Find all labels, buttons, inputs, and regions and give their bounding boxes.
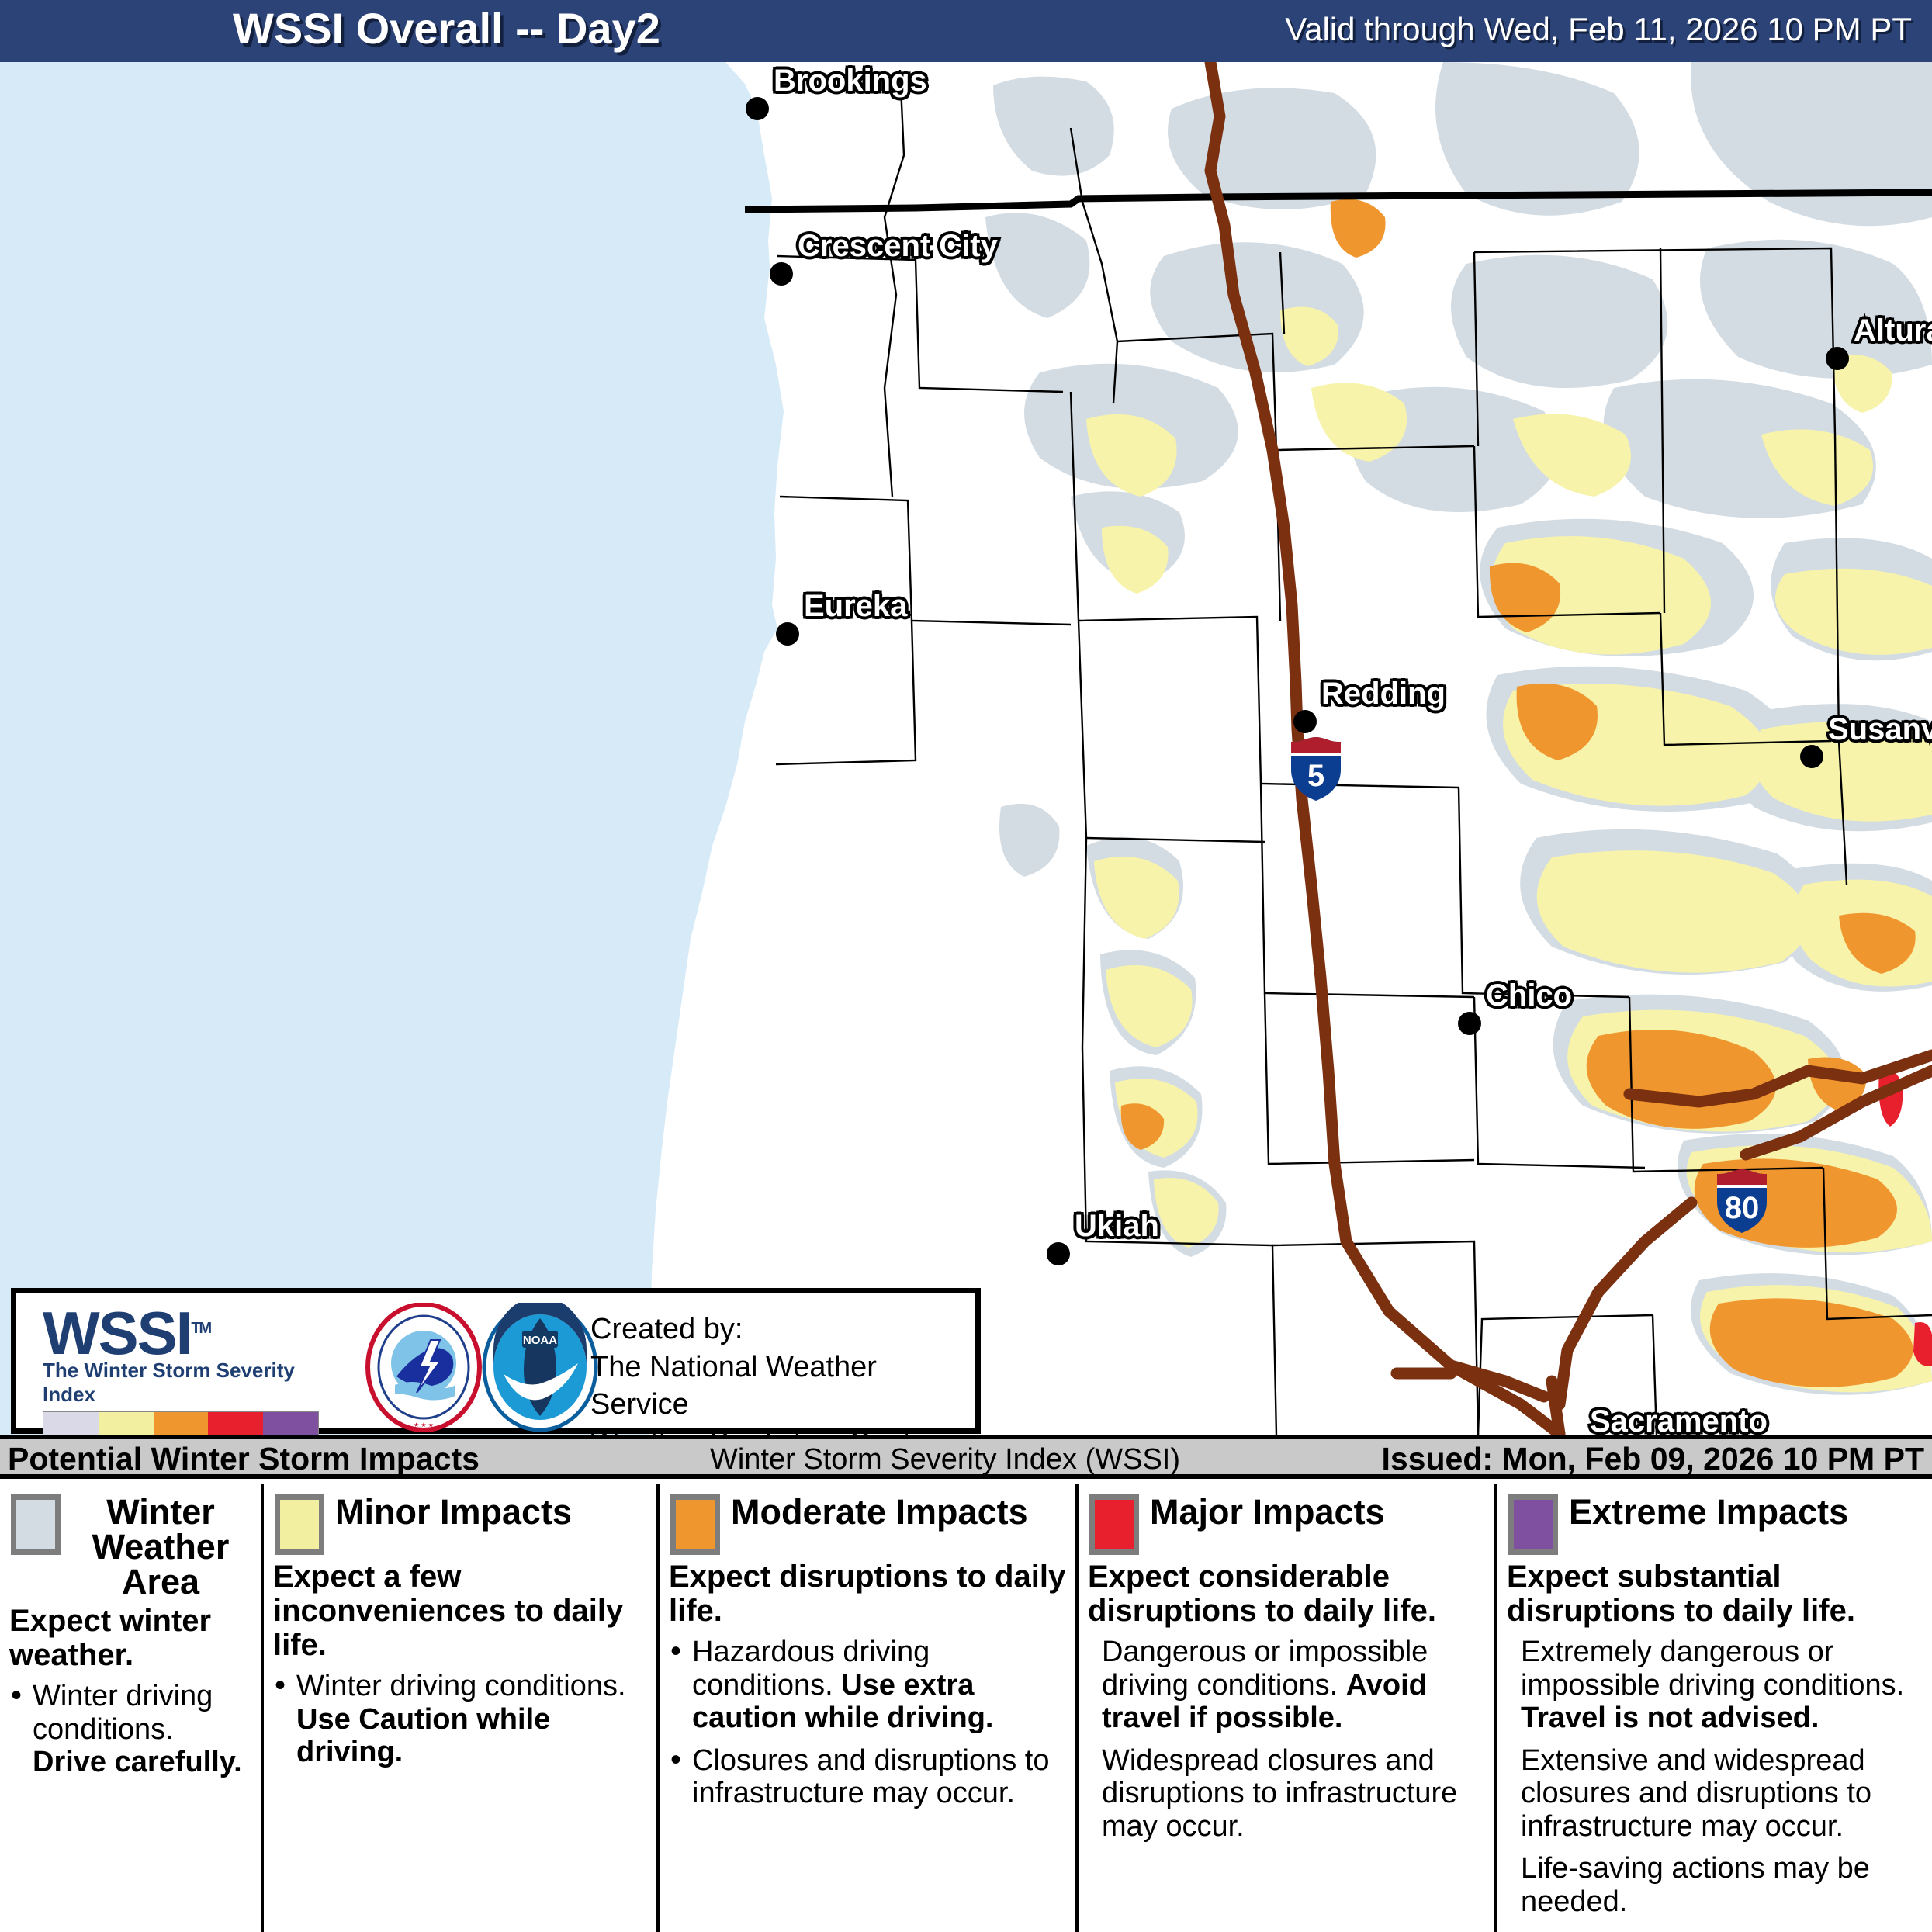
city-label: Chico [1486,978,1572,1013]
legend-body: Expect considerable disruptions to daily… [1079,1555,1494,1843]
interstate-shield-icon-80: 80 [1714,1168,1770,1234]
legend-color-swatch-moderate-impacts [670,1494,720,1555]
legend-column-extreme-impacts: Extreme ImpactsExpect substantial disrup… [1497,1484,1932,1932]
legend-item-text: Winter driving conditions. [33,1680,213,1746]
city-dot-icon [1293,710,1317,733]
legend-item-list: Winter driving conditions. Drive careful… [9,1680,251,1779]
legend-item-emphasis: Drive carefully. [33,1746,242,1778]
legend-color-swatch-major-impacts [1089,1494,1139,1555]
legend-color-swatch-winter-weather-area [11,1494,61,1555]
legend-header: Extreme Impacts [1497,1484,1932,1555]
page-title: WSSI Overall -- Day2 [233,3,660,54]
interstate-number: 5 [1288,759,1344,794]
legend-item-list: Extremely dangerous or impossible drivin… [1507,1636,1923,1918]
city-dot-icon [1800,745,1823,768]
city-dot-icon [1047,1242,1070,1265]
legend-header: Major Impacts [1079,1484,1494,1555]
legend-header: Moderate Impacts [660,1484,1075,1555]
city-dot-icon [746,97,769,120]
legend-item: Widespread closures and disruptions to i… [1088,1744,1485,1844]
city-dot-icon [1826,347,1849,370]
legend-item: Extensive and widespread closures and di… [1507,1744,1923,1844]
city-label: Brookings [774,64,927,99]
status-issued-label: Issued: Mon, Feb 09, 2026 10 PM PT [1381,1441,1924,1477]
legend-item-list: Winter driving conditions. Use Caution w… [273,1670,647,1769]
legend-body: Expect substantial disruptions to daily … [1497,1555,1932,1918]
legend-item: Winter driving conditions. Drive careful… [9,1680,251,1779]
legend-title: Moderate Impacts [731,1494,1069,1529]
legend-item-list: Hazardous driving conditions. Use extra … [669,1636,1066,1810]
map-graphics [0,62,1932,1435]
legend-body: Expect winter weather.Winter driving con… [0,1599,261,1779]
created-by-line-2: The National Weather Service [590,1349,975,1424]
city-label: Susanville [1828,712,1932,747]
title-bar: WSSI Overall -- Day2 Valid through Wed, … [0,0,1932,62]
wssi-wordmark: WSSITM [43,1304,345,1362]
impact-legend: Winter Weather AreaExpect winter weather… [0,1484,1932,1932]
legend-title: Extreme Impacts [1569,1494,1926,1529]
city-label: Eureka [804,589,907,624]
legend-body: Expect a few inconveniences to daily lif… [264,1555,656,1769]
status-potential-impacts-label: Potential Winter Storm Impacts [8,1441,480,1477]
legend-lead-text: Expect disruptions to daily life. [669,1560,1066,1628]
legend-lead-text: Expect winter weather. [9,1604,251,1672]
wssi-logo-box: WSSITM The Winter Storm Severity Index ★… [11,1288,981,1434]
created-by-line-1: Created by: [590,1311,975,1349]
status-wssi-label: Winter Storm Severity Index (WSSI) [710,1443,1180,1477]
legend-column-minor-impacts: Minor ImpactsExpect a few inconveniences… [264,1484,660,1932]
city-label: Crescent City [798,229,998,264]
legend-item-emphasis: Use Caution while driving. [296,1703,550,1769]
legend-lead-text: Expect substantial disruptions to daily … [1507,1560,1923,1628]
city-label: Redding [1321,677,1446,712]
city-dot-icon [776,622,799,646]
legend-header: Winter Weather Area [0,1484,261,1599]
legend-item: Winter driving conditions. Use Caution w… [273,1670,647,1769]
city-label: Ukiah [1075,1209,1159,1244]
valid-through-text: Valid through Wed, Feb 11, 2026 10 PM PT [1285,11,1912,48]
nws-seal-icon: ★ ★ ★ [365,1303,482,1432]
legend-color-swatch-extreme-impacts [1508,1494,1558,1555]
legend-item: Dangerous or impossible driving conditio… [1088,1636,1485,1735]
status-bar: Potential Winter Storm Impacts Winter St… [0,1435,1932,1479]
legend-item-text: Winter driving conditions. [296,1670,626,1702]
interstate-shield-icon-5: 5 [1288,736,1344,802]
legend-item-text: Extensive and widespread closures and di… [1521,1744,1871,1843]
legend-column-major-impacts: Major ImpactsExpect considerable disrupt… [1079,1484,1497,1932]
legend-item-text: Widespread closures and disruptions to i… [1102,1744,1457,1843]
legend-title: Winter Weather Area [71,1494,254,1599]
svg-text:★ ★ ★: ★ ★ ★ [414,1421,434,1428]
legend-item-list: Dangerous or impossible driving conditio… [1088,1636,1485,1843]
city-dot-icon [770,262,793,286]
legend-color-swatch-minor-impacts [275,1494,324,1555]
legend-item-text: Life-saving actions may be needed. [1521,1852,1870,1918]
legend-item: Extremely dangerous or impossible drivin… [1507,1636,1923,1735]
legend-column-moderate-impacts: Moderate ImpactsExpect disruptions to da… [660,1484,1079,1932]
legend-lead-text: Expect a few inconveniences to daily lif… [273,1560,647,1662]
legend-item-text: Extremely dangerous or impossible drivin… [1521,1636,1904,1702]
legend-item: Closures and disruptions to infrastructu… [669,1744,1066,1810]
legend-column-winter-weather-area: Winter Weather AreaExpect winter weather… [0,1484,264,1932]
wssi-map-page: WSSI Overall -- Day2 Valid through Wed, … [0,0,1932,1932]
map-canvas[interactable]: BrookingsCrescent CityEurekaAlturasReddi… [0,62,1932,1435]
legend-item-text: Closures and disruptions to infrastructu… [692,1744,1049,1810]
trademark-symbol: TM [191,1320,210,1337]
wssi-tagline: The Winter Storm Severity Index [43,1359,345,1407]
noaa-seal-icon: NOAA [482,1303,598,1432]
legend-header: Minor Impacts [264,1484,656,1555]
legend-lead-text: Expect considerable disruptions to daily… [1088,1560,1485,1628]
city-label: Sacramento [1590,1404,1768,1435]
city-dot-icon [1458,1012,1481,1035]
svg-text:NOAA: NOAA [523,1334,557,1347]
legend-item: Hazardous driving conditions. Use extra … [669,1636,1066,1735]
interstate-number: 80 [1714,1191,1770,1226]
legend-title: Major Impacts [1150,1494,1488,1529]
legend-title: Minor Impacts [335,1494,650,1529]
legend-body: Expect disruptions to daily life.Hazardo… [660,1555,1075,1810]
city-label: Alturas [1854,313,1932,348]
legend-item: Life-saving actions may be needed. [1507,1852,1923,1918]
legend-item-emphasis: Travel is not advised. [1521,1702,1819,1734]
wssi-logo: WSSITM The Winter Storm Severity Index [43,1304,345,1442]
